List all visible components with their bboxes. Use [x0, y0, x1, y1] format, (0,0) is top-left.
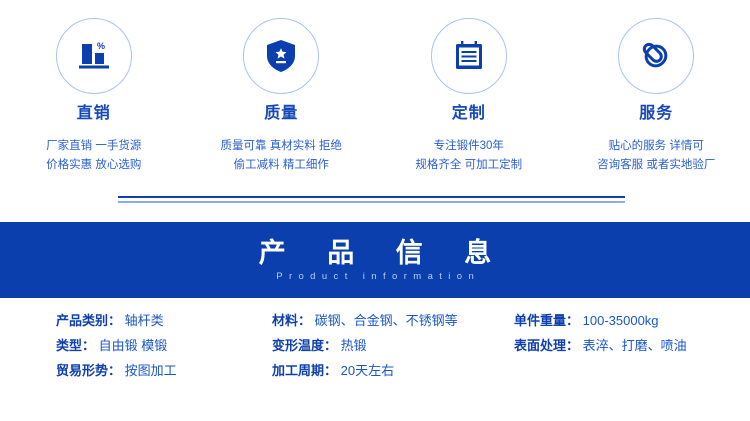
bar-chart-percent-icon: % — [76, 39, 112, 73]
spec-row: 单件重量： 100-35000kg — [514, 308, 750, 333]
product-info-page: % 直销 厂家直销 一手货源 价格实惠 放心选购 质量 — [0, 0, 750, 421]
feature-desc-line-1: 贴心的服务 详情可 — [597, 137, 715, 156]
spec-key: 类型： — [56, 338, 95, 353]
spec-column-2: 材料： 碳钢、合金钢、不锈钢等 变形温度： 热锻 加工周期： 20天左右 — [262, 308, 502, 388]
spec-key: 贸易形势： — [56, 363, 121, 378]
feature-icon-circle — [243, 18, 319, 94]
spec-value: 轴杆类 — [125, 313, 164, 328]
feature-icon-circle: % — [56, 18, 132, 94]
feature-description: 专注锻件30年 规格齐全 可加工定制 — [415, 137, 522, 175]
feature-desc-line-2: 咨询客服 或者实地验厂 — [597, 156, 715, 175]
spec-value: 按图加工 — [125, 363, 177, 378]
decorative-divider — [118, 196, 625, 205]
divider-line-dark — [118, 196, 625, 198]
spec-key: 材料： — [272, 313, 311, 328]
spec-row: 加工周期： 20天左右 — [272, 358, 502, 383]
shield-star-icon — [264, 38, 298, 74]
paperclip-icon — [637, 37, 675, 75]
feature-item-quality: 质量 质量可靠 真材实料 拒绝 偷工减料 精工细作 — [188, 18, 376, 193]
feature-list: % 直销 厂家直销 一手货源 价格实惠 放心选购 质量 — [0, 18, 750, 193]
feature-title: 服务 — [639, 106, 673, 122]
section-banner: 产 品 信 息 Product information — [0, 222, 750, 298]
banner-subtitle: Product information — [270, 272, 480, 282]
spec-key: 单件重量： — [514, 313, 579, 328]
feature-desc-line-2: 规格齐全 可加工定制 — [415, 156, 522, 175]
spec-value: 碳钢、合金钢、不锈钢等 — [315, 313, 458, 328]
spec-value: 表淬、打磨、喷油 — [583, 338, 687, 353]
feature-desc-line-1: 质量可靠 真材实料 拒绝 — [221, 137, 342, 156]
feature-title: 定制 — [452, 106, 486, 122]
feature-description: 贴心的服务 详情可 咨询客服 或者实地验厂 — [597, 137, 715, 175]
feature-title: 质量 — [264, 106, 298, 122]
feature-desc-line-2: 偷工减料 精工细作 — [221, 156, 342, 175]
spec-row: 变形温度： 热锻 — [272, 333, 502, 358]
spec-row: 材料： 碳钢、合金钢、不锈钢等 — [272, 308, 502, 333]
spec-key: 变形温度： — [272, 338, 337, 353]
feature-title: 直销 — [77, 106, 111, 122]
feature-description: 厂家直销 一手货源 价格实惠 放心选购 — [46, 137, 141, 175]
spec-row: 贸易形势： 按图加工 — [56, 358, 262, 383]
spec-column-1: 产品类别： 轴杆类 类型： 自由锻 模锻 贸易形势： 按图加工 — [0, 308, 262, 388]
feature-description: 质量可靠 真材实料 拒绝 偷工减料 精工细作 — [221, 137, 342, 175]
svg-text:%: % — [97, 41, 105, 51]
feature-item-service: 服务 贴心的服务 详情可 咨询客服 或者实地验厂 — [563, 18, 750, 193]
spec-value: 热锻 — [341, 338, 367, 353]
spec-table: 产品类别： 轴杆类 类型： 自由锻 模锻 贸易形势： 按图加工 材料： 碳钢、合… — [0, 308, 750, 388]
feature-icon-circle — [618, 18, 694, 94]
divider-line-light — [118, 201, 625, 203]
feature-desc-line-1: 专注锻件30年 — [415, 137, 522, 156]
spec-key: 表面处理： — [514, 338, 579, 353]
spec-value: 100-35000kg — [583, 313, 659, 328]
spec-row: 产品类别： 轴杆类 — [56, 308, 262, 333]
spec-row: 表面处理： 表淬、打磨、喷油 — [514, 333, 750, 358]
spec-row: 类型： 自由锻 模锻 — [56, 333, 262, 358]
feature-desc-line-2: 价格实惠 放心选购 — [46, 156, 141, 175]
spec-key: 加工周期： — [272, 363, 337, 378]
spec-value: 20天左右 — [341, 363, 394, 378]
feature-desc-line-1: 厂家直销 一手货源 — [46, 137, 141, 156]
spec-key: 产品类别： — [56, 313, 121, 328]
spec-value: 自由锻 模锻 — [99, 338, 168, 353]
feature-item-direct-sales: % 直销 厂家直销 一手货源 价格实惠 放心选购 — [0, 18, 188, 193]
clipboard-lines-icon — [452, 39, 486, 73]
feature-item-customization: 定制 专注锻件30年 规格齐全 可加工定制 — [375, 18, 563, 193]
spec-column-3: 单件重量： 100-35000kg 表面处理： 表淬、打磨、喷油 — [502, 308, 750, 388]
banner-title: 产 品 信 息 — [242, 239, 509, 267]
feature-icon-circle — [431, 18, 507, 94]
